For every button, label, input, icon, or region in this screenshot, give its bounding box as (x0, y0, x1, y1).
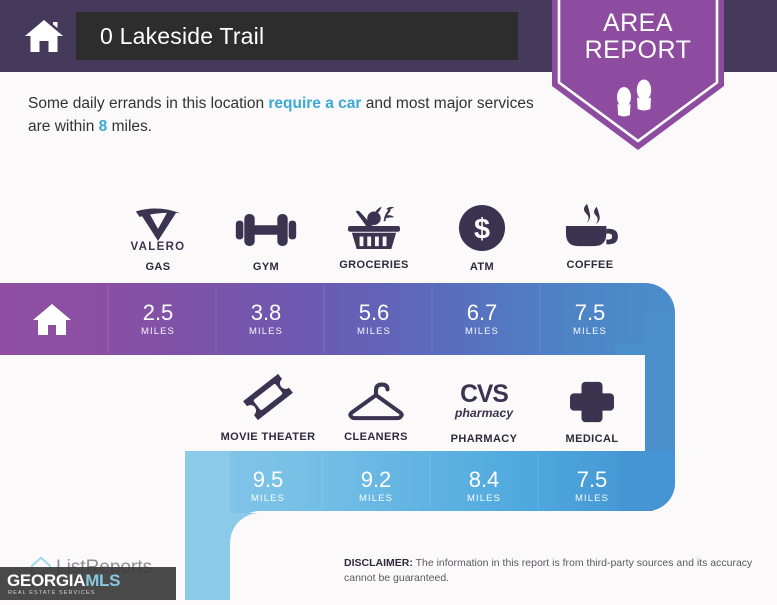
cvs-pharmacy-icon: CVS pharmacy (430, 372, 538, 424)
mile-value-gym: 3.8 (212, 301, 320, 325)
coffee-cup-icon (536, 198, 644, 250)
svg-text:$: $ (474, 214, 490, 246)
dumbbell-icon (212, 200, 320, 252)
mile-cell-groceries: 5.6 MILES (320, 301, 428, 337)
mile-unit-medical: MILES (538, 493, 646, 504)
movie-ticket-icon (214, 370, 322, 422)
mls-primary-text: GEORGIA (7, 571, 85, 590)
intro-highlight-1: require a car (268, 95, 361, 112)
icon-cell-groceries: GROCERIES (320, 198, 428, 271)
mile-value-medical: 7.5 (538, 468, 646, 492)
dollar-circle-icon: $ (428, 200, 536, 252)
mile-unit-cleaners: MILES (322, 493, 430, 504)
address-title-box: 0 Lakeside Trail (76, 12, 518, 60)
mile-unit-pharmacy: MILES (430, 493, 538, 504)
page-title: 0 Lakeside Trail (100, 23, 264, 50)
disclaimer: DISCLAIMER: The information in this repo… (344, 556, 764, 586)
icon-label-medical: MEDICAL (538, 433, 646, 445)
icon-cell-gas: VALERO GAS (104, 200, 212, 273)
georgiamls-watermark: GEORGIAMLS REAL ESTATE SERVICES (0, 567, 176, 600)
ribbon-home-icon (30, 300, 74, 340)
mile-value-coffee: 7.5 (536, 301, 644, 325)
intro-part-1: Some daily errands in this location (28, 95, 268, 112)
clothes-hanger-icon (322, 370, 430, 422)
mile-cell-cleaners: 9.2 MILES (322, 468, 430, 504)
mile-value-gas: 2.5 (104, 301, 212, 325)
svg-text:VALERO: VALERO (131, 241, 186, 252)
intro-part-3: miles. (107, 118, 152, 135)
mile-unit-coffee: MILES (536, 326, 644, 337)
mile-unit-groceries: MILES (320, 326, 428, 337)
icon-cell-movie-theater: MOVIE THEATER (214, 370, 322, 443)
icon-label-gas: GAS (104, 261, 212, 273)
icon-cell-pharmacy: CVS pharmacy PHARMACY (430, 372, 538, 445)
intro-text: Some daily errands in this location requ… (28, 92, 548, 138)
mile-unit-atm: MILES (428, 326, 536, 337)
badge-label: AREA REPORT (552, 10, 724, 64)
mile-cell-movie-theater: 9.5 MILES (214, 468, 322, 504)
icon-label-gym: GYM (212, 261, 320, 273)
icon-cell-medical: MEDICAL (538, 372, 646, 445)
grocery-basket-icon (320, 198, 428, 250)
icon-label-cleaners: CLEANERS (322, 431, 430, 443)
disclaimer-label: DISCLAIMER: (344, 557, 413, 569)
mile-value-atm: 6.7 (428, 301, 536, 325)
icon-cell-gym: GYM (212, 200, 320, 273)
icon-label-atm: ATM (428, 261, 536, 273)
mls-accent-text: MLS (85, 571, 120, 590)
icon-label-coffee: COFFEE (536, 259, 644, 271)
badge-line-2: REPORT (552, 37, 724, 64)
mile-cell-gym: 3.8 MILES (212, 301, 320, 337)
mile-cell-medical: 7.5 MILES (538, 468, 646, 504)
mile-cell-gas: 2.5 MILES (104, 301, 212, 337)
mile-cell-pharmacy: 8.4 MILES (430, 468, 538, 504)
mile-value-pharmacy: 8.4 (430, 468, 538, 492)
mile-value-movie-theater: 9.5 (214, 468, 322, 492)
intro-highlight-2: 8 (99, 118, 108, 135)
svg-text:CVS: CVS (460, 381, 508, 408)
icon-cell-coffee: COFFEE (536, 198, 644, 271)
icon-cell-cleaners: CLEANERS (322, 370, 430, 443)
mile-unit-gas: MILES (104, 326, 212, 337)
mls-subtitle: REAL ESTATE SERVICES (8, 590, 96, 596)
mile-value-groceries: 5.6 (320, 301, 428, 325)
mile-cell-atm: 6.7 MILES (428, 301, 536, 337)
svg-text:pharmacy: pharmacy (454, 406, 514, 420)
icon-cell-atm: $ ATM (428, 200, 536, 273)
medical-cross-icon (538, 372, 646, 424)
area-report-badge: AREA REPORT (552, 0, 724, 152)
valero-gas-icon: VALERO (104, 200, 212, 252)
icon-label-pharmacy: PHARMACY (430, 433, 538, 445)
icon-label-movie-theater: MOVIE THEATER (214, 431, 322, 443)
mile-unit-movie-theater: MILES (214, 493, 322, 504)
icon-label-groceries: GROCERIES (320, 259, 428, 271)
mile-unit-gym: MILES (212, 326, 320, 337)
area-report-infographic: 0 Lakeside Trail AREA REPORT Some daily … (0, 0, 777, 600)
badge-line-1: AREA (552, 10, 724, 37)
mile-cell-coffee: 7.5 MILES (536, 301, 644, 337)
mile-value-cleaners: 9.2 (322, 468, 430, 492)
home-icon (22, 14, 66, 58)
